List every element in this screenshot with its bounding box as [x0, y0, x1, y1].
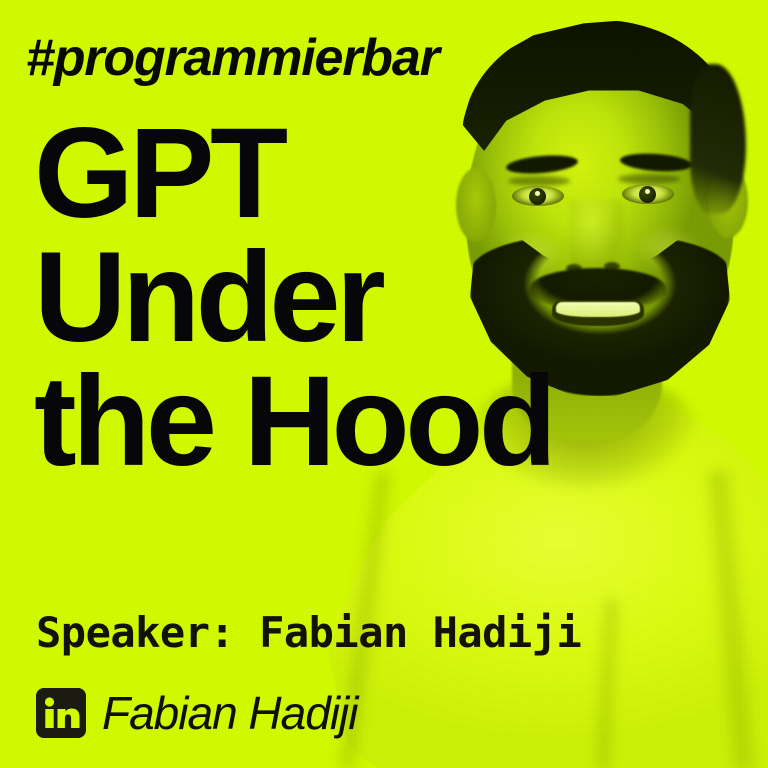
brand-hashtag: #programmierbar	[26, 28, 439, 88]
eye-right	[622, 184, 674, 204]
mouth	[552, 300, 644, 326]
linkedin-row[interactable]: Fabian Hadiji	[36, 686, 357, 740]
title-line-1: GPT	[34, 112, 553, 236]
eye-glint	[645, 189, 650, 194]
eyelid-right	[618, 174, 680, 184]
speaker-credit: Speaker: Fabian Hadiji	[36, 608, 581, 657]
title-line-3: the Hood	[34, 360, 553, 484]
title-line-2: Under	[34, 236, 553, 360]
episode-title: GPT Under the Hood	[34, 112, 553, 484]
teeth	[556, 302, 640, 317]
linkedin-icon[interactable]	[36, 688, 86, 738]
podcast-episode-cover: #programmierbar GPT Under the Hood Speak…	[0, 0, 768, 768]
linkedin-handle[interactable]: Fabian Hadiji	[102, 686, 357, 740]
hair-side-right	[690, 64, 746, 214]
